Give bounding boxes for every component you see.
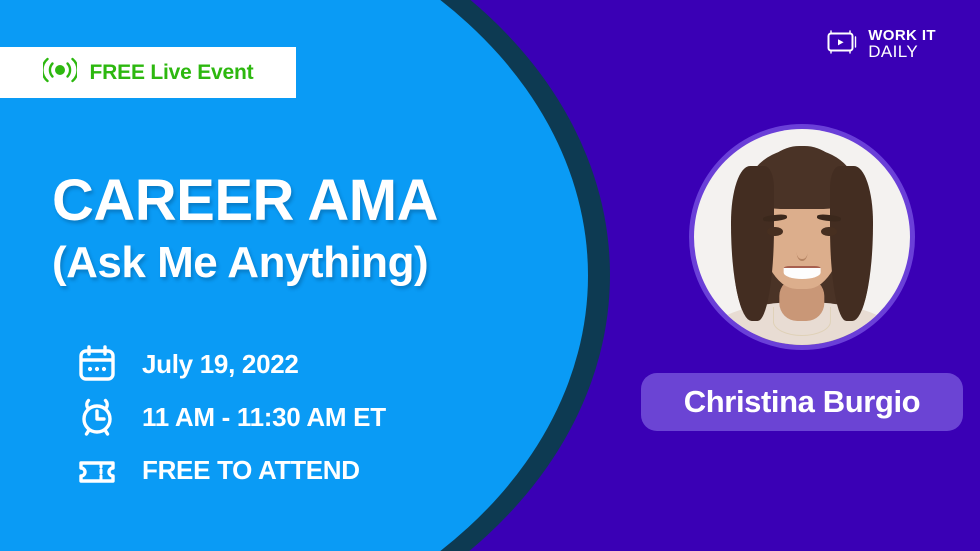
logo-wordmark: WORK IT DAILY [868,28,936,60]
event-promo-graphic: FREE Live Event WORK IT DAILY CAREER AMA… [0,0,980,551]
speaker-name: Christina Burgio [684,384,920,420]
detail-row-price: FREE TO ATTEND [74,444,386,496]
page-title: CAREER AMA [52,172,572,230]
detail-row-time: 11 AM - 11:30 AM ET [74,391,386,443]
speaker-headshot [694,129,910,345]
logo-line-1: WORK IT [868,28,936,43]
nose-shape [797,243,808,260]
alarm-clock-icon [74,394,120,440]
necklace-shape [773,307,831,336]
ticket-icon [74,447,120,493]
calendar-icon [74,341,120,387]
avatar [689,124,915,350]
event-details-list: July 19, 2022 11 AM - 11:30 AM ET [74,338,386,497]
eye-left [767,227,782,236]
logo-line-2: DAILY [868,43,936,60]
detail-row-date: July 19, 2022 [74,338,386,390]
detail-text-time: 11 AM - 11:30 AM ET [142,402,386,433]
hair-left-shape [731,166,774,322]
badge-label: FREE Live Event [90,61,254,85]
hair-right-shape [830,166,873,322]
page-subtitle: (Ask Me Anything) [52,240,572,286]
detail-text-price: FREE TO ATTEND [142,455,360,486]
headline-block: CAREER AMA (Ask Me Anything) [52,172,572,286]
status-badge: Christina Burgio [641,373,963,431]
work-it-daily-logo: WORK IT DAILY [825,28,936,60]
mouth-shape [784,266,821,279]
free-live-event-badge: FREE Live Event [0,47,296,98]
live-broadcast-icon [43,56,77,89]
play-screen-icon [825,29,859,60]
detail-text-date: July 19, 2022 [142,349,299,380]
